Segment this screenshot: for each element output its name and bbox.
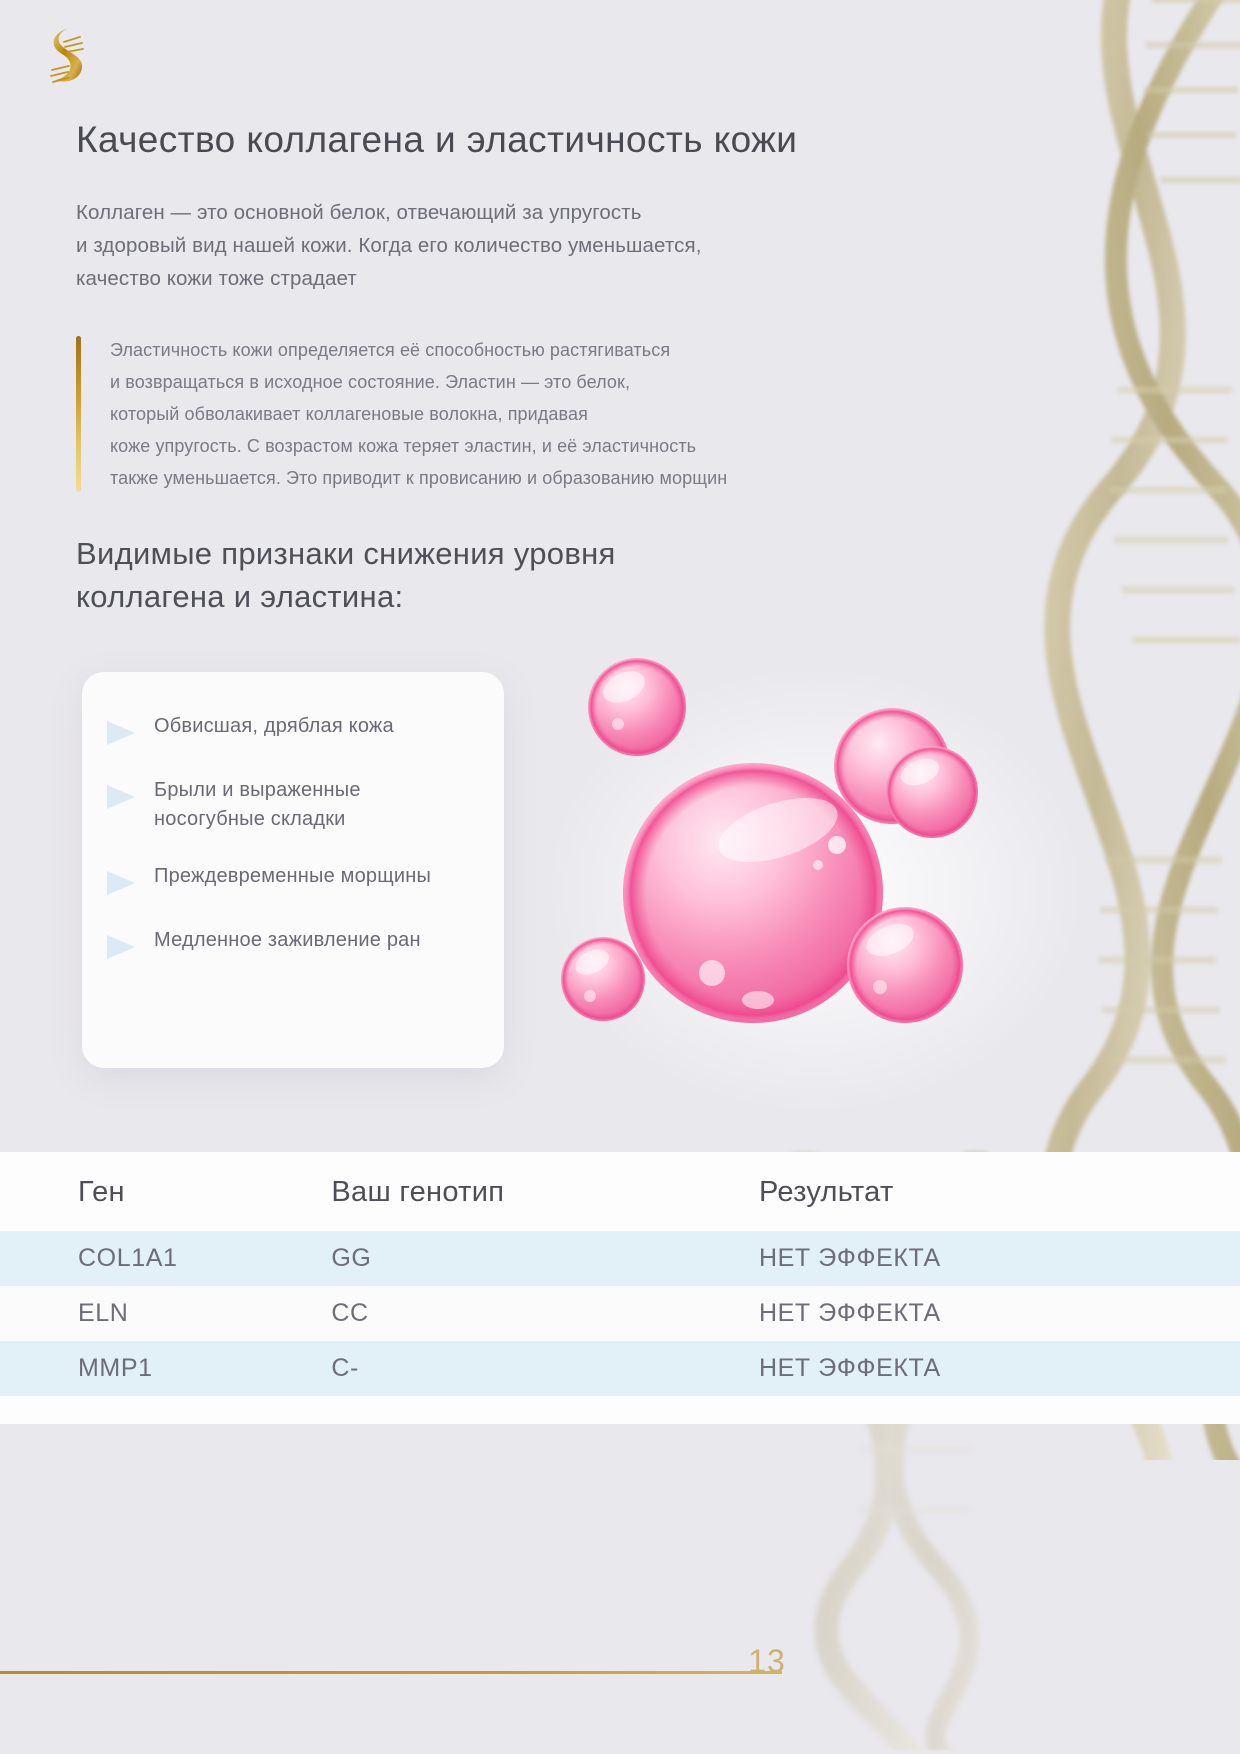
cell-genotype: CC bbox=[331, 1286, 759, 1341]
list-item: Медленное заживление ран bbox=[104, 926, 474, 962]
subtitle-line-2: коллагена и эластина: bbox=[76, 576, 896, 619]
footer-divider bbox=[0, 1671, 782, 1674]
bubble-main-large bbox=[623, 763, 883, 1023]
cell-result: НЕТ ЭФФЕКТА bbox=[759, 1341, 1240, 1396]
intro-line-1: Коллаген — это основной белок, отвечающи… bbox=[76, 196, 976, 229]
cell-gene: ELN bbox=[0, 1286, 331, 1341]
triangle-right-icon bbox=[104, 782, 138, 812]
cell-gene: COL1A1 bbox=[0, 1231, 331, 1286]
quote-line-1: Эластичность кожи определяется её способ… bbox=[110, 334, 956, 366]
cell-result: НЕТ ЭФФЕКТА bbox=[759, 1286, 1240, 1341]
triangle-right-icon bbox=[104, 932, 138, 962]
table-row: MMP1 C- НЕТ ЭФФЕКТА bbox=[0, 1341, 1240, 1396]
table-header-row: Ген Ваш генотип Результат bbox=[0, 1152, 1240, 1231]
intro-line-2: и здоровый вид нашей кожи. Когда его кол… bbox=[76, 229, 976, 262]
quote-line-2: и возвращаться в исходное состояние. Эла… bbox=[110, 366, 956, 398]
triangle-right-icon bbox=[104, 868, 138, 898]
sign-label: Обвисшая, дряблая кожа bbox=[154, 712, 394, 741]
triangle-right-icon bbox=[104, 718, 138, 748]
cell-gene: MMP1 bbox=[0, 1341, 331, 1396]
subtitle-line-1: Видимые признаки снижения уровня bbox=[76, 533, 896, 576]
quote-line-5: также уменьшается. Это приводит к провис… bbox=[110, 462, 956, 494]
list-item: Брыли и выраженные носогубные складки bbox=[104, 776, 474, 834]
gene-results-table: Ген Ваш генотип Результат COL1A1 GG НЕТ … bbox=[0, 1152, 1240, 1396]
cell-genotype: C- bbox=[331, 1341, 759, 1396]
pink-collagen-bubbles-illustration bbox=[540, 640, 1100, 1110]
table-row: ELN CC НЕТ ЭФФЕКТА bbox=[0, 1286, 1240, 1341]
page-number: 13 bbox=[737, 1643, 797, 1680]
bubble-pair-right bbox=[834, 708, 978, 838]
quote-line-4: коже упругость. С возрастом кожа теряет … bbox=[110, 430, 956, 462]
column-header-gene: Ген bbox=[0, 1152, 331, 1231]
column-header-genotype: Ваш генотип bbox=[331, 1152, 759, 1231]
elasticity-callout: Эластичность кожи определяется её способ… bbox=[76, 334, 956, 494]
cell-genotype: GG bbox=[331, 1231, 759, 1286]
cell-result: НЕТ ЭФФЕКТА bbox=[759, 1231, 1240, 1286]
report-page: Качество коллагена и эластичность кожи К… bbox=[0, 0, 1240, 1754]
sign-label: Преждевременные морщины bbox=[154, 862, 431, 891]
column-header-result: Результат bbox=[759, 1152, 1240, 1231]
bubble-small-top bbox=[588, 658, 686, 756]
sign-label: Медленное заживление ран bbox=[154, 926, 421, 955]
sign-label: Брыли и выраженные носогубные складки bbox=[154, 776, 474, 834]
page-title: Качество коллагена и эластичность кожи bbox=[76, 118, 976, 162]
list-item: Обвисшая, дряблая кожа bbox=[104, 712, 474, 748]
intro-paragraph: Коллаген — это основной белок, отвечающи… bbox=[76, 196, 976, 296]
dna-helix-icon bbox=[36, 22, 94, 98]
visible-signs-card: Обвисшая, дряблая кожа Брыли и выраженны… bbox=[82, 672, 504, 1068]
bubble-small-bottom-left bbox=[561, 937, 645, 1021]
intro-line-3: качество кожи тоже страдает bbox=[76, 262, 976, 295]
bubble-bottom-right bbox=[847, 907, 963, 1023]
list-item: Преждевременные морщины bbox=[104, 862, 474, 898]
gene-results-section: Ген Ваш генотип Результат COL1A1 GG НЕТ … bbox=[0, 1152, 1240, 1424]
quote-line-3: который обволакивает коллагеновые волокн… bbox=[110, 398, 956, 430]
section-subtitle: Видимые признаки снижения уровня коллаге… bbox=[76, 533, 896, 619]
table-row: COL1A1 GG НЕТ ЭФФЕКТА bbox=[0, 1231, 1240, 1286]
